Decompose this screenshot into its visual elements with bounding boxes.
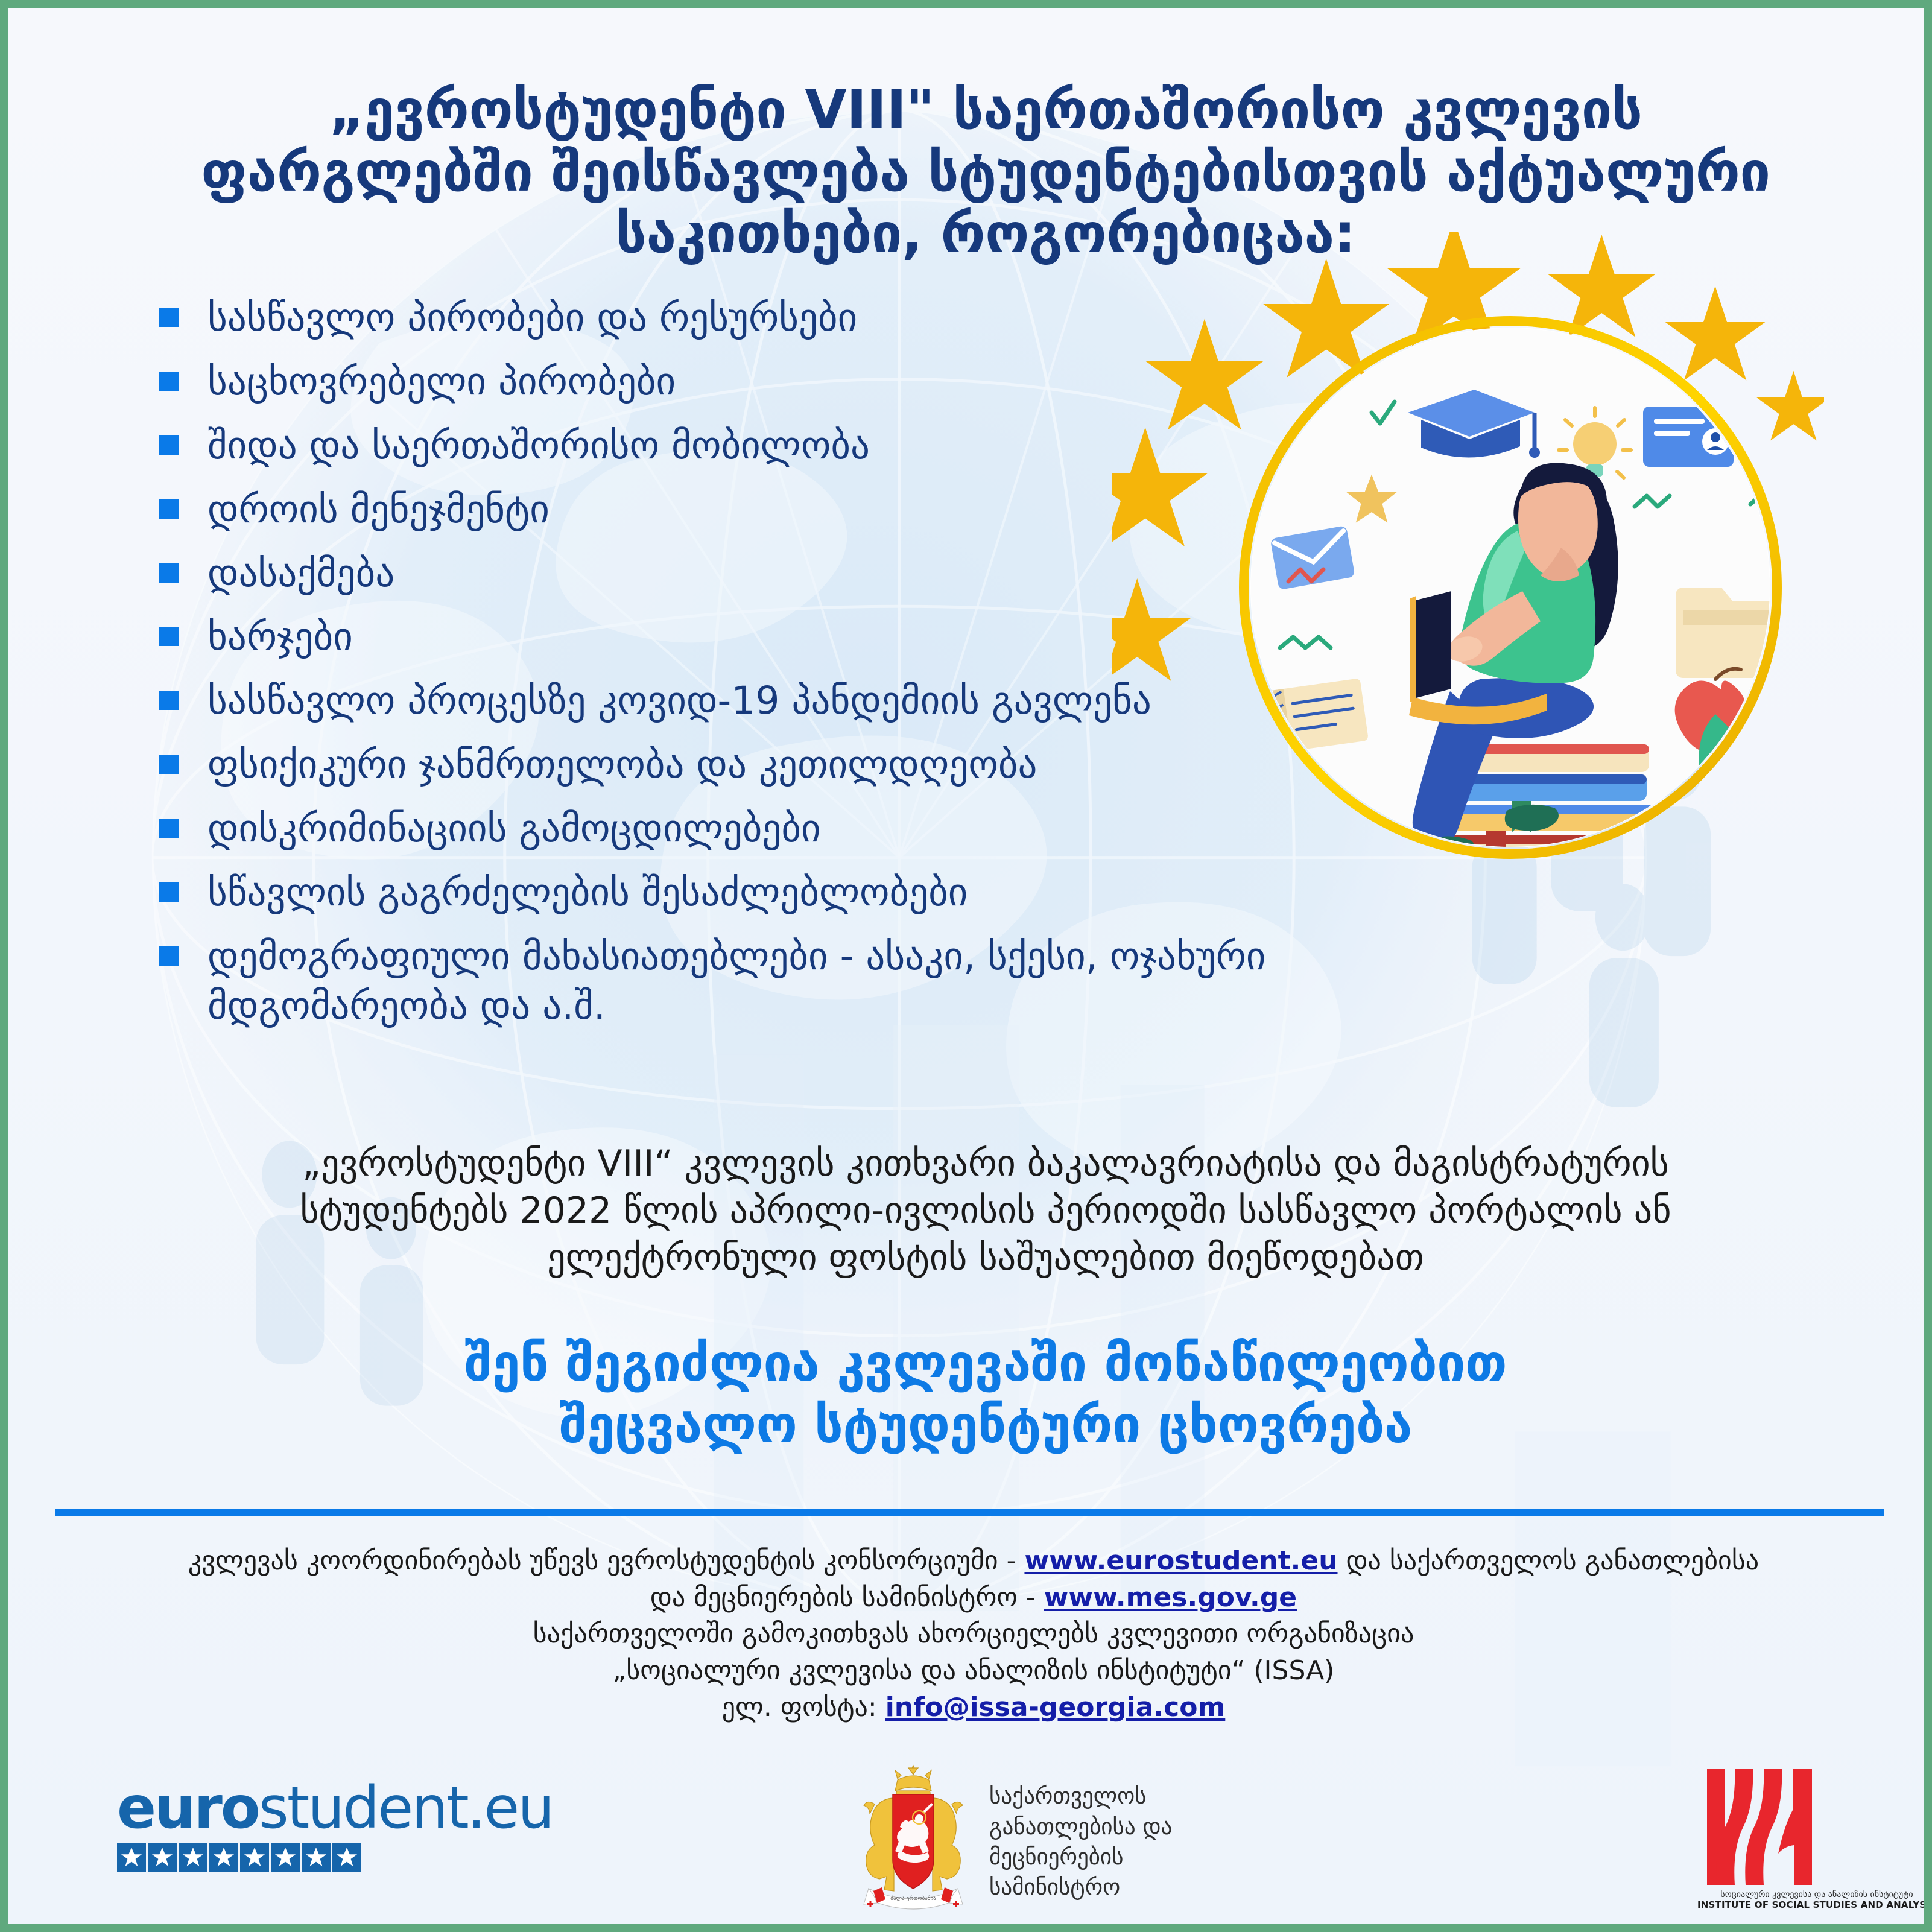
footer-credits: კვლევას კოორდინირებას უწევს ევროსტუდენტი… [81,1543,1866,1726]
bullet-square-icon [159,819,179,838]
ministry-text-line-2: განათლებისა და [989,1812,1172,1842]
bullet-label: დისკრიმინაციის გამოცდილებები [207,804,1335,854]
bullet-label: დემოგრაფიული მახასიათებლები - ასაკი, სქე… [207,932,1335,1031]
bullet-square-icon [159,882,179,902]
bullet-square-icon [159,435,179,455]
list-item: საცხოვრებელი პირობები [159,357,1335,407]
list-item: სასწავლო პროცესზე კოვიდ-19 პანდემიის გავ… [159,676,1335,726]
headline-line-2: შეცვალო სტუდენტური ცხოვრება [165,1394,1806,1455]
footer-line-1-suffix: და საქართველოს განათლებისა [1338,1545,1759,1576]
bullet-square-icon [159,308,179,327]
ministry-logo: ძალა ერთობაშია საქართველოს განათლებისა დ… [853,1761,1172,1924]
bullet-label: სასწავლო პირობები და რესურსები [207,293,1335,343]
list-item: შიდა და საერთაშორისო მობილობა [159,421,1335,470]
topic-bullet-list: სასწავლო პირობები და რესურსები საცხოვრებ… [159,293,1335,1045]
footer-line-2-prefix: და მეცნიერების სამინისტრო - [650,1582,1044,1613]
star-icon [302,1843,331,1872]
bullet-label: დასაქმება [207,549,1335,598]
bullet-label: საცხოვრებელი პირობები [207,357,1335,407]
list-item: დემოგრაფიული მახასიათებლები - ასაკი, სქე… [159,932,1335,1031]
footer-line-1-prefix: კვლევას კოორდინირებას უწევს ევროსტუდენტი… [188,1545,1025,1576]
ribbon-motto: ძალა ერთობაშია [890,1895,936,1902]
eurostudent-link[interactable]: www.eurostudent.eu [1024,1545,1337,1576]
bullet-label: სწავლის გაგრძელების შესაძლებლობები [207,868,1335,917]
paragraph-line-2: სტუდენტებს 2022 წლის აპრილი-ივლისის პერი… [262,1187,1709,1234]
list-item: სასწავლო პირობები და რესურსები [159,293,1335,343]
ministry-text-line-1: საქართველოს [989,1781,1172,1811]
bullet-square-icon [159,946,179,966]
logo-row: eurostudent.eu [8,1761,1932,1932]
star-icon [148,1843,177,1872]
star-icon [179,1843,207,1872]
footer-line-4: „სოციალური კვლევისა და ანალიზის ინსტიტუტ… [81,1653,1866,1690]
issa-logo: სოციალური კვლევისა და ანალიზის ინსტიტუტი… [1697,1767,1932,1910]
survey-period-paragraph: „ევროსტუდენტი VIII“ კვლევის კითხვარი ბაკ… [262,1140,1709,1281]
paragraph-line-1: „ევროსტუდენტი VIII“ კვლევის კითხვარი ბაკ… [262,1140,1709,1187]
bullet-label: ხარჯები [207,612,1335,662]
list-item: დისკრიმინაციის გამოცდილებები [159,804,1335,854]
footer-line-1: კვლევას კოორდინირებას უწევს ევროსტუდენტი… [81,1543,1866,1580]
headline-line-1: შენ შეგიძლია კვლევაში მონაწილეობით [165,1332,1806,1394]
title-line-1: „ევროსტუდენტი VIII" საერთაშორისო კვლევის [153,80,1818,142]
eurostudent-wordmark: eurostudent.eu [117,1779,553,1837]
issa-wordmark-icon [1697,1767,1824,1887]
bullet-square-icon [159,563,179,583]
star-icon [209,1843,238,1872]
issa-email-link[interactable]: info@issa-georgia.com [885,1692,1226,1723]
list-item: დროის მენეჯმენტი [159,485,1335,534]
eurostudent-star-strip [117,1843,553,1872]
bullet-square-icon [159,691,179,710]
list-item: ხარჯები [159,612,1335,662]
issa-subtitle-en: INSTITUTE OF SOCIAL STUDIES AND ANALYSIS [1697,1899,1932,1910]
issa-subtitle-ka: სოციალური კვლევისა და ანალიზის ინსტიტუტი [1697,1890,1932,1899]
footer-line-5: ელ. ფოსტა: info@issa-georgia.com [81,1690,1866,1726]
paragraph-line-3: ელექტრონული ფოსტის საშუალებით მიეწოდებათ [262,1234,1709,1281]
bullet-label: ფსიქიკური ჯანმრთელობა და კეთილდღეობა [207,740,1335,790]
georgia-coat-of-arms-icon: ძალა ერთობაშია [853,1761,974,1924]
star-icon [117,1843,146,1872]
bullet-label: სასწავლო პროცესზე კოვიდ-19 პანდემიის გავ… [207,676,1335,726]
list-item: დასაქმება [159,549,1335,598]
poster-root: „ევროსტუდენტი VIII" საერთაშორისო კვლევის… [0,0,1932,1932]
ministry-text-line-3: მეცნიერების [989,1842,1172,1872]
bullet-square-icon [159,755,179,774]
footer-line-2: და მეცნიერების სამინისტრო - www.mes.gov.… [81,1580,1866,1617]
title-line-2: ფარგლებში შეისწავლება სტუდენტებისთვის აქ… [153,142,1818,204]
star-icon [271,1843,300,1872]
ministry-text-line-4: სამინისტრო [989,1872,1172,1902]
page-title: „ევროსტუდენტი VIII" საერთაშორისო კვლევის… [153,80,1818,265]
bullet-label: შიდა და საერთაშორისო მობილობა [207,421,1335,470]
eurostudent-wordmark-bold: euro [117,1774,259,1842]
ministry-logo-text: საქართველოს განათლებისა და მეცნიერების ს… [989,1781,1172,1902]
list-item: სწავლის გაგრძელების შესაძლებლობები [159,868,1335,917]
bullet-square-icon [159,372,179,391]
footer-email-label: ელ. ფოსტა: [722,1692,885,1723]
mes-gov-link[interactable]: www.mes.gov.ge [1044,1582,1297,1613]
call-to-action-headline: შენ შეგიძლია კვლევაში მონაწილეობით შეცვა… [165,1332,1806,1456]
star-icon [332,1843,361,1872]
title-line-3: საკითხები, როგორებიცაა: [153,203,1818,265]
star-icon [240,1843,269,1872]
bullet-square-icon [159,627,179,646]
horizontal-divider [55,1509,1884,1516]
bullet-square-icon [159,499,179,519]
eurostudent-logo: eurostudent.eu [117,1779,553,1872]
eurostudent-wordmark-light: student.eu [259,1774,553,1842]
bullet-label: დროის მენეჯმენტი [207,485,1335,534]
footer-line-3: საქართველოში გამოკითხვას ახორციელებს კვლ… [81,1616,1866,1653]
list-item: ფსიქიკური ჯანმრთელობა და კეთილდღეობა [159,740,1335,790]
